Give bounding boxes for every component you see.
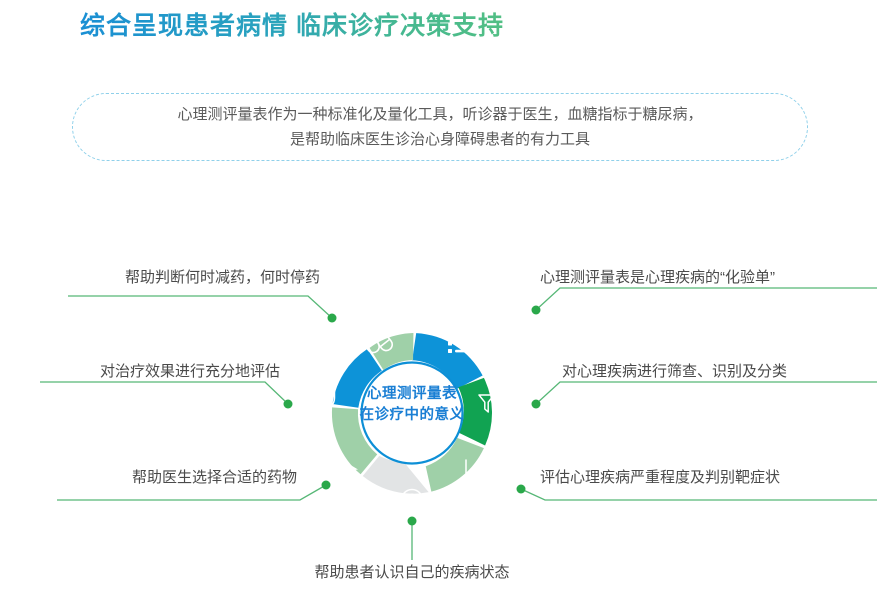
segment-severity [426, 438, 484, 492]
connector-self-awareness [408, 517, 417, 561]
intro-line-1: 心理测评量表作为一种标准化及量化工具，听诊器于医生，血糖指标于糖尿病， [177, 102, 702, 127]
segment-dose-adjustment [369, 333, 413, 370]
pills-icon [362, 333, 394, 355]
filter-icon [479, 395, 501, 412]
donut-center-text: 心理测评量表 在诊疗中的意义 [347, 384, 477, 426]
list-icon [448, 334, 469, 353]
segment-self-awareness [363, 456, 429, 494]
shield-search-icon [314, 385, 335, 410]
question-mark-icon [402, 490, 423, 511]
intro-line-2: 是帮助临床医生诊治心身障碍患者的有力工具 [290, 127, 590, 152]
callout-label-severity: 评估心理疾病严重程度及判别靶症状 [540, 468, 780, 488]
callout-label-self-awareness: 帮助患者认识自己的疾病状态 [212, 563, 612, 583]
callout-label-drug-choice: 帮助医生选择合适的药物 [0, 468, 297, 488]
callout-label-checklist: 心理测评量表是心理疾病的“化验单” [540, 268, 775, 288]
callout-label-dose-adjustment: 帮助判断何时减药，何时停药 [0, 268, 320, 288]
connector-dose-adjustment [68, 296, 337, 323]
donut-diagram [0, 0, 887, 601]
callout-label-screening: 对心理疾病进行筛查、识别及分类 [562, 362, 787, 382]
segment-checklist [412, 333, 482, 389]
connector-effect-evaluation [40, 382, 293, 409]
donut-center-line-2: 在诊疗中的意义 [347, 405, 477, 426]
connector-checklist [532, 288, 878, 315]
flag-icon [339, 458, 358, 472]
callout-label-effect-evaluation: 对治疗效果进行充分地评估 [0, 362, 280, 382]
page-title: 综合呈现患者病情 临床诊疗决策支持 [80, 6, 504, 42]
report-chart-icon [466, 457, 488, 478]
intro-description-box: 心理测评量表作为一种标准化及量化工具，听诊器于医生，血糖指标于糖尿病， 是帮助临… [72, 93, 808, 161]
donut-center-line-1: 心理测评量表 [347, 384, 477, 405]
connector-screening [532, 382, 878, 409]
